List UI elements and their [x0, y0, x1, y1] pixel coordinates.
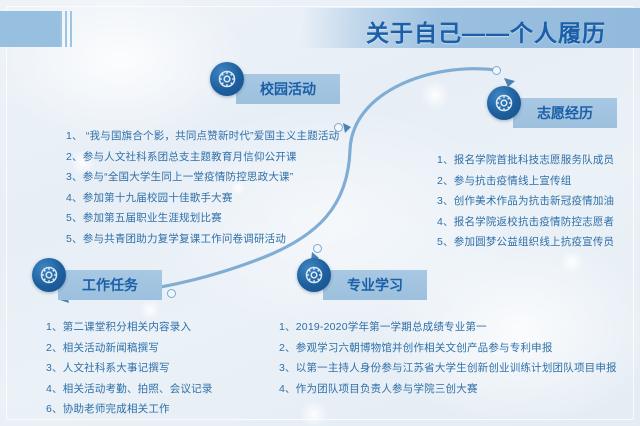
- badge-label: 专业学习: [323, 270, 427, 300]
- list-item: 1、 “我与国旗合个影，共同点赞新时代”爱国主义主题活动: [66, 126, 339, 147]
- list-item: 2、相关活动新闻稿撰写: [46, 338, 213, 359]
- list-item: 4、作为团队项目负责人参与学院三创大赛: [279, 379, 617, 400]
- list-item: 1、2019-2020学年第一学期总成绩专业第一: [279, 317, 617, 338]
- list-volunteer: 1、报名学院首批科技志愿服务队成员 2、参与抗击疫情线上宣传组 3、创作美术作品…: [437, 150, 614, 253]
- list-item: 5、参与共青团助力复学复课工作问卷调研活动: [66, 229, 339, 250]
- list-item: 2、参与人文社科系团总支主题教育月信仰公开课: [66, 147, 339, 168]
- decorative-stripes: [60, 11, 72, 47]
- list-work: 1、第二课堂积分相关内容录入 2、相关活动新闻稿撰写 3、人文社科系大事记撰写 …: [46, 317, 213, 420]
- list-item: 5、参加第五届职业生涯规划比赛: [66, 208, 339, 229]
- badge-label: 志愿经历: [513, 98, 617, 128]
- list-item: 1、第二课堂积分相关内容录入: [46, 317, 213, 338]
- bokeh-dot: [300, 400, 328, 426]
- list-campus: 1、 “我与国旗合个影，共同点赞新时代”爱国主义主题活动 2、参与人文社科系团总…: [66, 126, 339, 249]
- bokeh-dot: [420, 80, 450, 110]
- list-item: 3、创作美术作品为抗击新冠疫情加油: [437, 191, 614, 212]
- page-title: 关于自己——个人履历: [366, 14, 606, 48]
- badge-label: 校园活动: [236, 74, 340, 104]
- list-item: 4、参加第十九届校园十佳歌手大赛: [66, 188, 339, 209]
- bokeh-dot: [560, 250, 584, 274]
- list-item: 3、以第一主持人身份参与江苏省大学生创新创业训练计划团队项目申报: [279, 358, 617, 379]
- list-item: 5、参加圆梦公益组织线上抗疫宣传员: [437, 232, 614, 253]
- list-item: 1、报名学院首批科技志愿服务队成员: [437, 150, 614, 171]
- badge-label: 工作任务: [58, 270, 162, 300]
- list-item: 6、协助老师完成相关工作: [46, 399, 213, 420]
- curve-node: [167, 289, 176, 298]
- list-item: 4、报名学院返校抗击疫情防控志愿者: [437, 212, 614, 233]
- slide-canvas: 关于自己——个人履历 校园活动 1、 “我与国旗合个影，共同点赞新时代”爱国主义…: [0, 0, 640, 426]
- list-item: 3、参与“全国大学生同上一堂疫情防控思政大课”: [66, 167, 339, 188]
- list-item: 2、参观学习六朝博物馆并创作相关文创产品参与专利申报: [279, 338, 617, 359]
- list-item: 3、人文社科系大事记撰写: [46, 358, 213, 379]
- list-item: 4、相关活动考勤、拍照、会议记录: [46, 379, 213, 400]
- decorative-rectangle: [0, 11, 60, 47]
- list-study: 1、2019-2020学年第一学期总成绩专业第一 2、参观学习六朝博物馆并创作相…: [279, 317, 617, 399]
- list-item: 2、参与抗击疫情线上宣传组: [437, 171, 614, 192]
- curve-node: [492, 66, 501, 75]
